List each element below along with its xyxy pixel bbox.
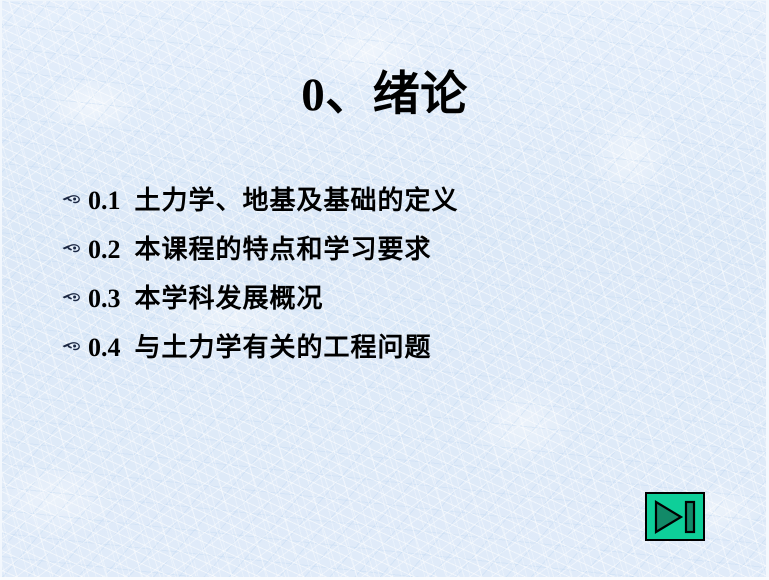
- outline-item-number: 0.4: [88, 333, 121, 363]
- pointing-hand-bullet-icon: [62, 193, 88, 211]
- pointing-hand-bullet-icon: [62, 242, 88, 260]
- slide-edge-top: [0, 0, 769, 1]
- outline-item-number: 0.2: [88, 235, 121, 265]
- outline-item-text: 本课程的特点和学习要求: [135, 229, 432, 266]
- list-item[interactable]: 0.1 土力学、地基及基础的定义: [62, 180, 702, 229]
- presentation-slide: 0、绪论 0.1 土力学、地基及基础的定义: [0, 0, 769, 580]
- next-slide-button[interactable]: [645, 492, 705, 541]
- outline-list: 0.1 土力学、地基及基础的定义 0.2 本课程的特点和学习要求: [62, 180, 702, 376]
- list-item[interactable]: 0.2 本课程的特点和学习要求: [62, 229, 702, 278]
- skip-forward-icon: [653, 500, 697, 534]
- outline-item-text: 与土力学有关的工程问题: [135, 327, 432, 364]
- outline-item-number: 0.1: [88, 186, 121, 216]
- list-item[interactable]: 0.3 本学科发展概况: [62, 278, 702, 327]
- pointing-hand-bullet-icon: [62, 340, 88, 358]
- list-item[interactable]: 0.4 与土力学有关的工程问题: [62, 327, 702, 376]
- pointing-hand-bullet-icon: [62, 291, 88, 309]
- outline-item-number: 0.3: [88, 284, 121, 314]
- slide-title: 0、绪论: [0, 66, 769, 124]
- outline-item-text: 本学科发展概况: [135, 278, 324, 315]
- outline-item-text: 土力学、地基及基础的定义: [135, 180, 459, 217]
